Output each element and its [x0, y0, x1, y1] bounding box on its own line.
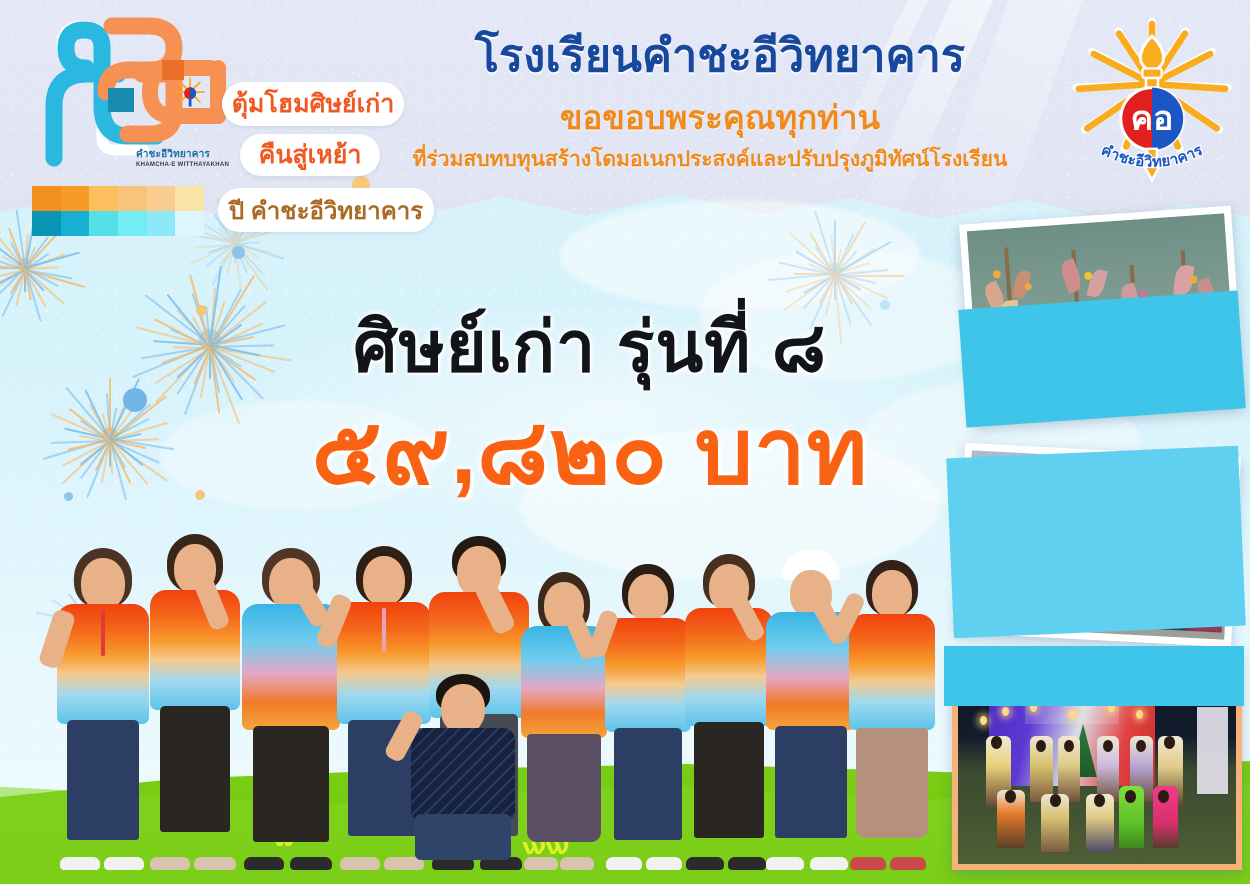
- svg-text:คอ: คอ: [1131, 101, 1174, 138]
- school-name-title: โรงเรียนคำชะอีวิทยาคาร: [390, 32, 1050, 79]
- palette-swatch: [89, 211, 118, 236]
- person-figure: [840, 548, 944, 866]
- palette-swatch: [32, 186, 61, 211]
- logo-caption: คำชะอีวิทยาคาร KHAMCHA-E WITTHAYAKHAN: [136, 147, 256, 168]
- tagline-bubble-2: คืนสู่เหย้า: [240, 134, 380, 176]
- photo-3-accent-bar: [944, 646, 1244, 706]
- palette-swatch: [118, 186, 147, 211]
- person-figure-crouching: [398, 670, 528, 866]
- confetti-dot: [232, 246, 245, 259]
- donation-purpose-note: ที่ร่วมสบทบทุนสร้างโดมอเนกประสงค์และปรับ…: [360, 148, 1060, 172]
- confetti-dot: [64, 492, 73, 501]
- poster-canvas: ѡ ѡѡ: [0, 0, 1250, 884]
- confetti-dot: [123, 388, 147, 412]
- thanks-subtitle: ขอขอบพระคุณทุกท่าน: [390, 100, 1050, 136]
- tagline-text-1: ตุ้มโฮมศิษย์เก่า: [232, 84, 395, 124]
- tagline-text-2: คืนสู่เหย้า: [259, 135, 362, 175]
- palette-swatch: [61, 211, 90, 236]
- tagline-bubble-3: ปี คำชะอีวิทยาคาร: [218, 188, 434, 232]
- alumni-group-photo: [0, 520, 960, 884]
- confetti-dot: [880, 300, 890, 310]
- logo-caption-english: KHAMCHA-E WITTHAYAKHAN: [136, 162, 256, 168]
- palette-swatch: [175, 211, 204, 236]
- tagline-bubble-1: ตุ้มโฮมศิษย์เก่า: [222, 82, 404, 126]
- palette-swatch: [175, 186, 204, 211]
- palette-swatch: [147, 186, 176, 211]
- palette-swatch: [61, 186, 90, 211]
- tagline-text-3: ปี คำชะอีวิทยาคาร: [229, 191, 423, 230]
- logo-caption-thai: คำชะอีวิทยาคาร: [136, 147, 256, 162]
- school-emblem-icon: คอ คำชะอีวิทยาคาร: [1062, 12, 1242, 192]
- palette-swatch: [118, 211, 147, 236]
- main-amount-line2: ๕๙,๘๒๐ บาท: [200, 406, 980, 498]
- palette-swatch: [147, 211, 176, 236]
- anniversary-logo: คำชะอีวิทยาคาร KHAMCHA-E WITTHAYAKHAN: [24, 8, 234, 178]
- photo-2-accent-bar: [946, 446, 1246, 639]
- palette-swatch: [89, 186, 118, 211]
- palette-swatch: [32, 211, 61, 236]
- brand-color-palette: [32, 186, 204, 236]
- main-title-line1: ศิษย์เก่า รุ่นที่ ๘: [200, 312, 980, 382]
- photo-1-accent-bar: [958, 290, 1246, 427]
